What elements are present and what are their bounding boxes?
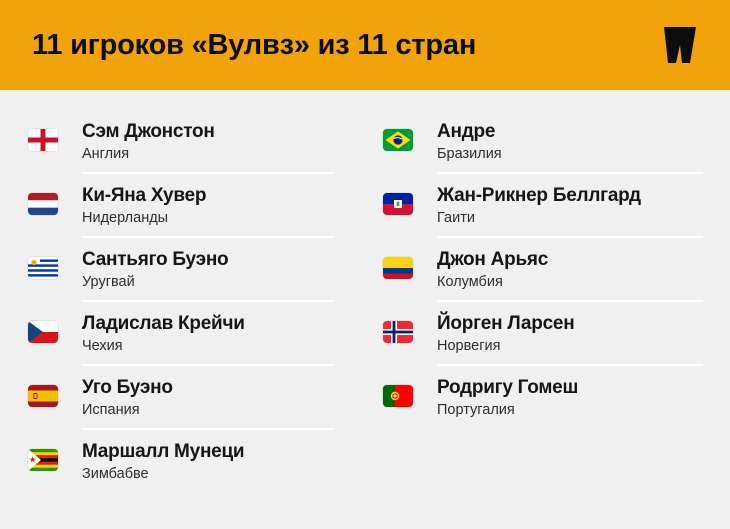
- player-country: Испания: [82, 401, 334, 420]
- player-name: Андре: [437, 120, 703, 143]
- player-entry[interactable]: Уго Буэно Испания: [28, 364, 334, 428]
- header-banner: 11 игроков «Вулвз» из 11 стран: [0, 0, 730, 90]
- flag-england-icon: [28, 129, 58, 151]
- flag-brazil-icon: [383, 129, 413, 151]
- player-entry[interactable]: Жан-Рикнер Беллгард Гаити: [383, 172, 703, 236]
- player-entry[interactable]: Маршалл Мунеци Зимбабве: [28, 428, 334, 492]
- player-name: Сантьяго Буэно: [82, 248, 334, 271]
- player-entry[interactable]: Джон Арьяс Колумбия: [383, 236, 703, 300]
- player-country: Зимбабве: [82, 465, 334, 484]
- player-name: Уго Буэно: [82, 376, 334, 399]
- player-country: Колумбия: [437, 273, 703, 292]
- player-country: Бразилия: [437, 145, 703, 164]
- flag-zimbabwe-icon: [28, 449, 58, 471]
- player-entry[interactable]: Ладислав Крейчи Чехия: [28, 300, 334, 364]
- player-entry[interactable]: Сэм Джонстон Англия: [28, 108, 334, 172]
- flag-uruguay-icon: [28, 257, 58, 279]
- player-name: Жан-Рикнер Беллгард: [437, 184, 703, 207]
- players-column-left: Сэм Джонстон Англия Ки-Яна Хувер Нидерла…: [28, 108, 334, 492]
- player-name: Родригу Гомеш: [437, 376, 703, 399]
- player-entry[interactable]: Сантьяго Буэно Уругвай: [28, 236, 334, 300]
- player-country: Нидерланды: [82, 209, 334, 228]
- flag-haiti-icon: [383, 193, 413, 215]
- player-name: Сэм Джонстон: [82, 120, 334, 143]
- player-country: Норвегия: [437, 337, 703, 356]
- player-entry[interactable]: Родригу Гомеш Португалия: [383, 364, 703, 428]
- flag-portugal-icon: [383, 385, 413, 407]
- player-name: Джон Арьяс: [437, 248, 703, 271]
- player-country: Чехия: [82, 337, 334, 356]
- flag-netherlands-icon: [28, 193, 58, 215]
- player-name: Ладислав Крейчи: [82, 312, 334, 335]
- w-logo-icon: [654, 19, 706, 71]
- player-entry[interactable]: Андре Бразилия: [383, 108, 703, 172]
- player-name: Маршалл Мунеци: [82, 440, 334, 463]
- player-entry[interactable]: Ки-Яна Хувер Нидерланды: [28, 172, 334, 236]
- flag-spain-icon: [28, 385, 58, 407]
- player-country: Португалия: [437, 401, 703, 420]
- player-name: Йорген Ларсен: [437, 312, 703, 335]
- player-entry[interactable]: Йорген Ларсен Норвегия: [383, 300, 703, 364]
- player-name: Ки-Яна Хувер: [82, 184, 334, 207]
- players-column-right: Андре Бразилия Жан-Рикнер Беллгард Гаити: [383, 108, 703, 428]
- player-country: Гаити: [437, 209, 703, 228]
- flag-norway-icon: [383, 321, 413, 343]
- page-title: 11 игроков «Вулвз» из 11 стран: [32, 0, 476, 90]
- player-country: Англия: [82, 145, 334, 164]
- flag-czechia-icon: [28, 321, 58, 343]
- player-country: Уругвай: [82, 273, 334, 292]
- flag-colombia-icon: [383, 257, 413, 279]
